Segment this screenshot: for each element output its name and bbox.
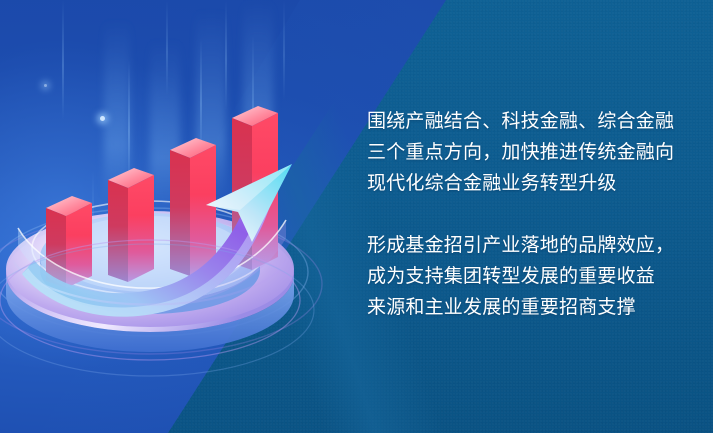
bar-2 [108,168,154,282]
bar-3 [170,138,216,276]
growth-chart-illustration [0,60,330,390]
slide-canvas: 围绕产融结合、科技金融、综合金融 三个重点方向，加快推进传统金融向 现代化综合金… [0,0,713,433]
text-content: 围绕产融结合、科技金融、综合金融 三个重点方向，加快推进传统金融向 现代化综合金… [367,106,687,323]
paragraph-2: 形成基金招引产业落地的品牌效应， 成为支持集团转型发展的重要收益 来源和主业发展… [367,230,687,323]
paragraph-1: 围绕产融结合、科技金融、综合金融 三个重点方向，加快推进传统金融向 现代化综合金… [367,106,687,199]
